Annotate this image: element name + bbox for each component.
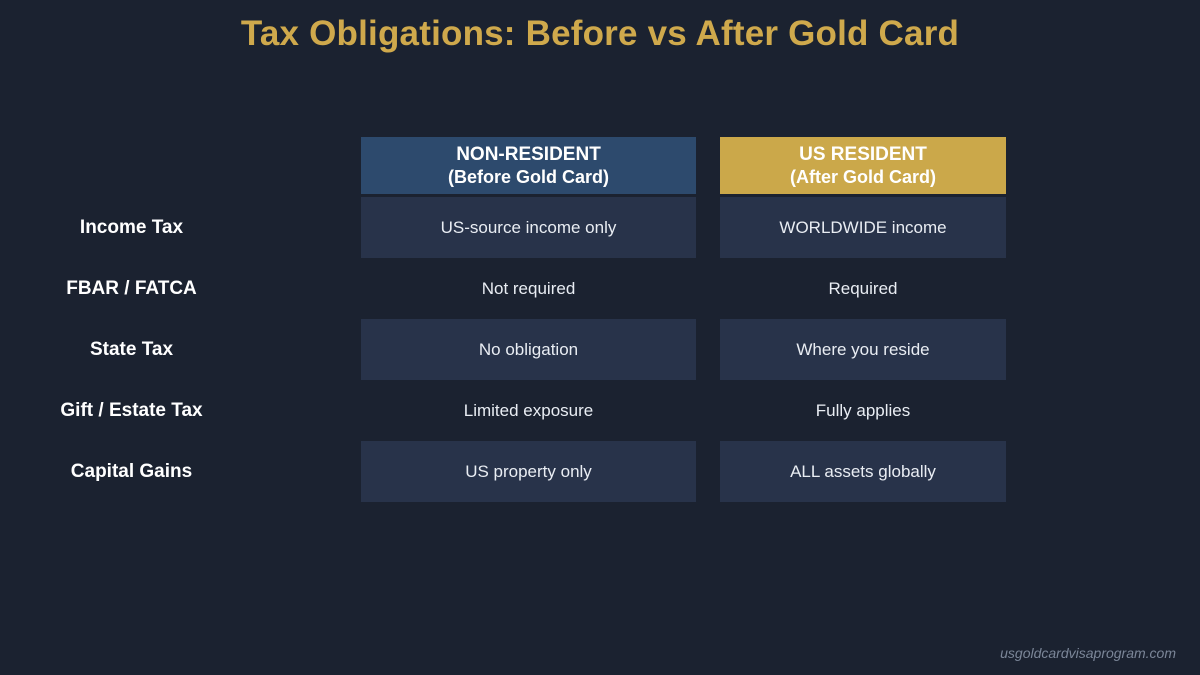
row-value-us-resident: Where you reside xyxy=(720,319,1103,380)
cell-text: Limited exposure xyxy=(361,380,696,441)
row-label: Gift / Estate Tax xyxy=(60,400,202,422)
table-row: Gift / Estate Tax Limited exposure Fully… xyxy=(0,380,1200,441)
cell-text: Required xyxy=(720,258,1006,319)
row-value-us-resident: Required xyxy=(720,258,1103,319)
table-row: Income Tax US-source income only WORLDWI… xyxy=(0,197,1200,258)
row-label: FBAR / FATCA xyxy=(66,278,197,300)
header-cell-us-resident: US RESIDENT (After Gold Card) xyxy=(720,137,1103,194)
cell-text: Where you reside xyxy=(720,319,1006,380)
table-header-row: NON-RESIDENT (Before Gold Card) US RESID… xyxy=(0,137,1200,194)
row-value-non-resident: US-source income only xyxy=(361,197,720,258)
row-value-non-resident: US property only xyxy=(361,441,720,502)
row-value-us-resident: WORLDWIDE income xyxy=(720,197,1103,258)
row-value-us-resident: ALL assets globally xyxy=(720,441,1103,502)
table-row: State Tax No obligation Where you reside xyxy=(0,319,1200,380)
cell-text: US-source income only xyxy=(361,197,696,258)
row-value-us-resident: Fully applies xyxy=(720,380,1103,441)
row-label-cell: Capital Gains xyxy=(0,441,361,502)
cell-text: WORLDWIDE income xyxy=(720,197,1006,258)
row-label-cell: FBAR / FATCA xyxy=(0,258,361,319)
cell-text: ALL assets globally xyxy=(720,441,1006,502)
row-value-non-resident: Limited exposure xyxy=(361,380,720,441)
row-label: Income Tax xyxy=(80,217,183,239)
page-title: Tax Obligations: Before vs After Gold Ca… xyxy=(0,14,1200,54)
cell-text: No obligation xyxy=(361,319,696,380)
cell-text: Not required xyxy=(361,258,696,319)
row-value-non-resident: No obligation xyxy=(361,319,720,380)
comparison-table: NON-RESIDENT (Before Gold Card) US RESID… xyxy=(0,137,1200,502)
header-cell-non-resident: NON-RESIDENT (Before Gold Card) xyxy=(361,137,720,194)
table-row: Capital Gains US property only ALL asset… xyxy=(0,441,1200,502)
header-label-spacer xyxy=(0,137,361,194)
row-value-non-resident: Not required xyxy=(361,258,720,319)
table-row: FBAR / FATCA Not required Required xyxy=(0,258,1200,319)
cell-text: Fully applies xyxy=(720,380,1006,441)
header-title-non-resident: NON-RESIDENT xyxy=(456,143,601,166)
header-subtitle-us-resident: (After Gold Card) xyxy=(790,166,936,189)
row-label: Capital Gains xyxy=(71,461,192,483)
row-label-cell: Gift / Estate Tax xyxy=(0,380,361,441)
row-label-cell: Income Tax xyxy=(0,197,361,258)
header-subtitle-non-resident: (Before Gold Card) xyxy=(448,166,609,189)
cell-text: US property only xyxy=(361,441,696,502)
row-label: State Tax xyxy=(90,339,173,361)
header-title-us-resident: US RESIDENT xyxy=(799,143,927,166)
footer-watermark-url: usgoldcardvisaprogram.com xyxy=(1000,645,1176,661)
row-label-cell: State Tax xyxy=(0,319,361,380)
